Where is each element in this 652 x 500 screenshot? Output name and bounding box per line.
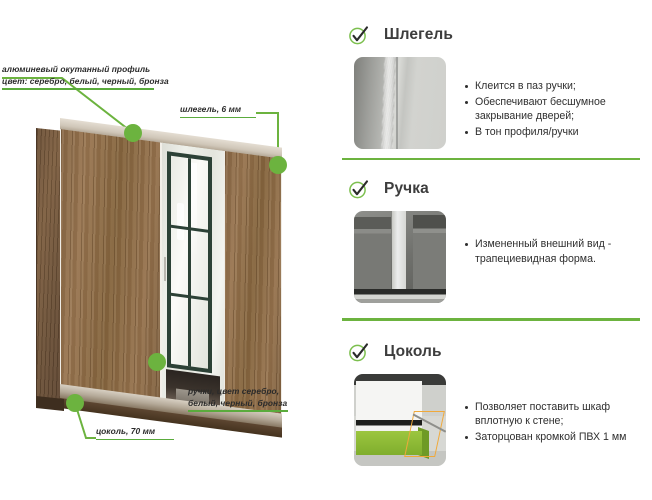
feature-tsokol: Цоколь Позволяет поставить шкаф вплотную… [340, 321, 642, 481]
wardrobe-door-right [224, 151, 282, 417]
check-circle-icon [348, 178, 370, 200]
list-item: Позволяет поставить шкаф вплотную к стен… [464, 400, 642, 429]
handle-photo-rail [354, 289, 446, 304]
feature-shlegel-header: Шлегель [340, 22, 642, 48]
list-item: Клеится в паз ручки; [464, 79, 642, 94]
wardrobe-doors [60, 129, 282, 417]
mirror-highlight [191, 163, 197, 259]
mirror-door-handle [164, 256, 166, 280]
feature-ruchka-header: Ручка [340, 176, 642, 202]
feature-ruchka: Ручка Измененный внешний вид - трапециев… [340, 160, 642, 318]
callout-profile-line1: алюминевый окутанный профиль [2, 64, 169, 76]
callout-plinth-line1: цоколь, 70 мм [96, 426, 174, 438]
callout-handles: ручки, цвет серебро, белый, черный, брон… [188, 386, 288, 412]
mirror-frame-bar [171, 293, 208, 301]
callout-dot-handles [148, 353, 166, 371]
feature-shlegel: Шлегель Клеится в паз ручки; Обеспечиваю… [340, 0, 642, 158]
callout-dot-plinth [66, 394, 84, 412]
shlegel-photo [354, 57, 446, 149]
callout-handles-line2: белый, черный, бронза [188, 398, 288, 410]
feature-ruchka-bullets: Измененный внешний вид - трапециевидная … [464, 211, 642, 303]
handle-photo [354, 211, 446, 303]
callout-profile: алюминевый окутанный профиль цвет: сереб… [2, 64, 169, 90]
list-item: Измененный внешний вид - трапециевидная … [464, 237, 642, 266]
callout-shlegel: шлегель, 6 мм [180, 104, 256, 118]
callout-dot-profile [124, 124, 142, 142]
feature-tsokol-bullets: Позволяет поставить шкаф вплотную к стен… [464, 374, 642, 466]
wardrobe-illustration-panel: алюминевый окутанный профиль цвет: сереб… [0, 0, 330, 500]
wardrobe-door-mirror [160, 142, 226, 409]
callout-profile-line2: цвет: серебро, белый, черный, бронза [2, 76, 169, 88]
mirror-highlight-secondary [177, 202, 184, 240]
check-circle-icon [348, 24, 370, 46]
shlegel-brush-strip [382, 57, 396, 149]
feature-tsokol-body: Позволяет поставить шкаф вплотную к стен… [340, 374, 642, 466]
feature-shlegel-title: Шлегель [384, 26, 453, 44]
list-item: Заторцован кромкой ПВХ 1 мм [464, 430, 642, 445]
feature-ruchka-title: Ручка [384, 180, 429, 198]
feature-tsokol-header: Цоколь [340, 339, 642, 365]
feature-ruchka-body: Измененный внешний вид - трапециевидная … [340, 211, 642, 303]
feature-shlegel-body: Клеится в паз ручки; Обеспечивают бесшум… [340, 57, 642, 149]
callout-dot-shlegel [269, 156, 287, 174]
check-circle-icon [348, 341, 370, 363]
mirror-green-frame [167, 151, 212, 373]
callout-profile-underline [2, 88, 154, 90]
callout-handles-line1: ручки, цвет серебро, [188, 386, 288, 398]
list-item: Обеспечивают бесшумное закрывание дверей… [464, 95, 642, 124]
wardrobe-foot [36, 396, 64, 411]
callout-shlegel-underline [180, 117, 256, 119]
shlegel-photo-seam [396, 57, 398, 149]
handle-photo-panel-left [354, 217, 391, 291]
callout-shlegel-line1: шлегель, 6 мм [180, 104, 256, 116]
feature-tsokol-title: Цоколь [384, 343, 442, 361]
list-item: В тон профиля/ручки [464, 125, 642, 140]
callout-plinth: цоколь, 70 мм [96, 426, 174, 440]
feature-shlegel-bullets: Клеится в паз ручки; Обеспечивают бесшум… [464, 57, 642, 149]
callout-plinth-underline [96, 439, 174, 441]
plinth-photo [354, 374, 446, 466]
handle-photo-panel-right [413, 215, 446, 290]
features-panel: Шлегель Клеится в паз ручки; Обеспечиваю… [330, 0, 652, 500]
callout-handles-underline [188, 410, 288, 412]
handle-photo-handle [392, 211, 407, 296]
